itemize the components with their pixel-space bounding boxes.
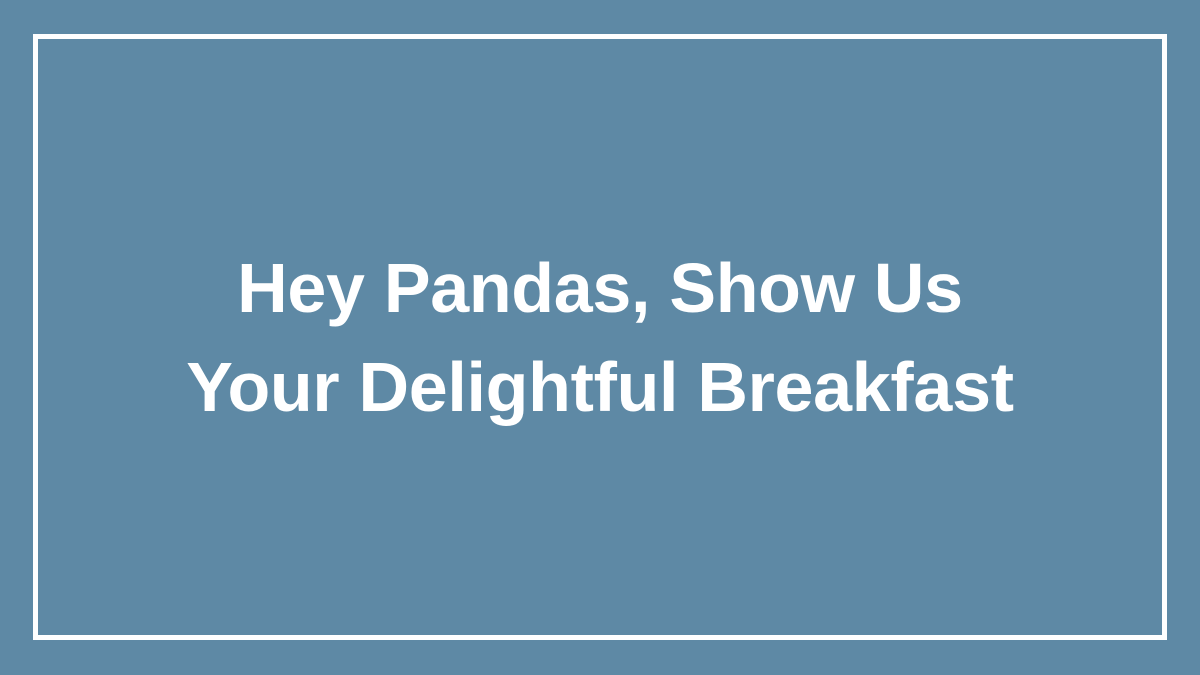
page-title: Hey Pandas, Show Us Your Delightful Brea… — [160, 239, 1040, 437]
headline-container: Hey Pandas, Show Us Your Delightful Brea… — [0, 0, 1200, 675]
poster-canvas: Hey Pandas, Show Us Your Delightful Brea… — [0, 0, 1200, 675]
